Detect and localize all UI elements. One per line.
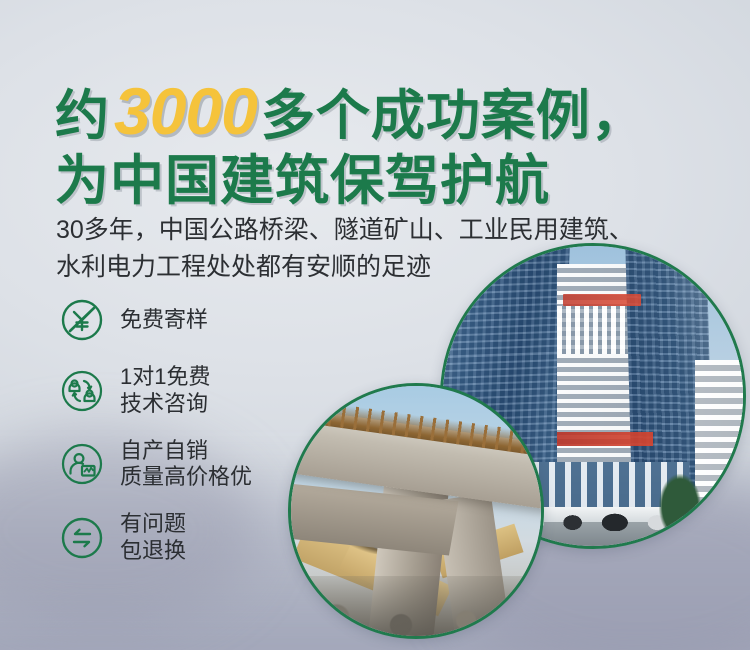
feature-line-1: 有问题 <box>120 511 186 538</box>
feature-label: 自产自销 质量高价格优 <box>120 438 252 492</box>
headline-line-2: 为中国建筑保驾护航 <box>55 154 695 208</box>
bridge-photo-image <box>291 386 541 636</box>
feature-item-free-sample: 免费寄样 <box>58 296 358 344</box>
headline-suffix: 多个成功案例， <box>261 86 646 146</box>
rooftop-sign <box>563 294 641 306</box>
feature-line-1: 1对1免费 <box>120 364 210 391</box>
feature-label: 免费寄样 <box>120 307 208 334</box>
return-exchange-arrows-icon <box>58 514 106 562</box>
headline-number: 3000 <box>110 74 261 148</box>
one-to-one-consult-icon <box>58 367 106 415</box>
feature-label: 1对1免费 技术咨询 <box>120 364 210 418</box>
feature-line-2: 技术咨询 <box>120 391 210 418</box>
facade-sign <box>557 432 653 446</box>
feature-label: 有问题 包退换 <box>120 511 186 565</box>
bridge-photo <box>288 383 544 639</box>
subtitle-line-1: 30多年，中国公路桥梁、隧道矿山、工业民用建筑、 <box>56 212 716 249</box>
feature-line-1: 自产自销 <box>120 438 252 465</box>
headline-line-1: 约3000多个成功案例， <box>55 78 695 144</box>
headline-prefix: 约 <box>55 86 110 146</box>
construction-rubble <box>291 576 541 636</box>
tree <box>659 474 701 528</box>
self-production-sales-icon <box>58 440 106 488</box>
feature-line-2: 质量高价格优 <box>120 464 252 491</box>
headline: 约3000多个成功案例， 为中国建筑保驾护航 <box>55 78 695 208</box>
feature-line-1: 免费寄样 <box>120 307 208 332</box>
feature-line-2: 包退换 <box>120 538 186 565</box>
free-sample-yuan-crossed-icon <box>58 296 106 344</box>
promo-banner: 约3000多个成功案例， 为中国建筑保驾护航 30多年，中国公路桥梁、隧道矿山、… <box>0 0 750 650</box>
